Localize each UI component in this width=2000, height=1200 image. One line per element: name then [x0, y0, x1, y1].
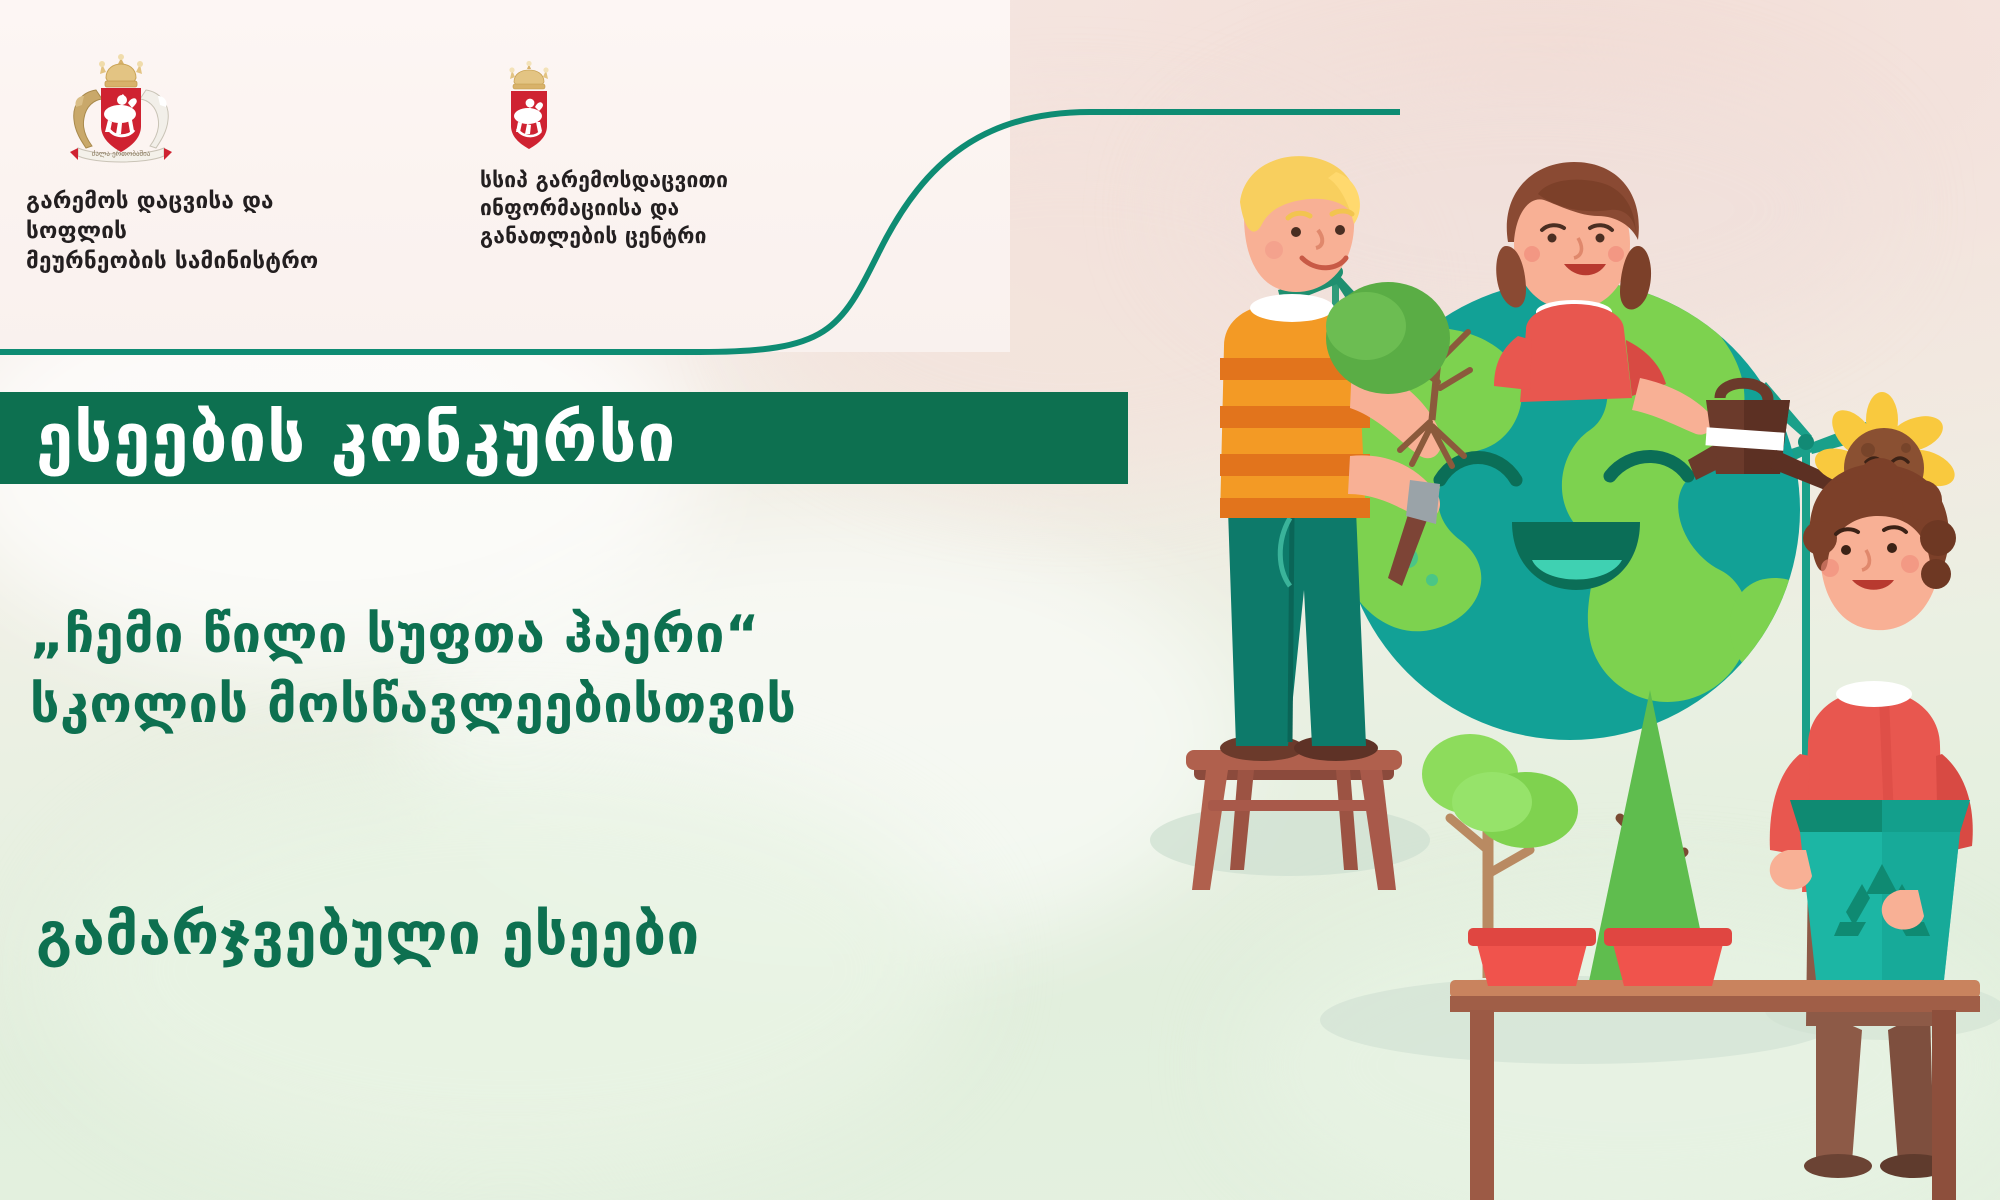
poster-root: ძალა ერთობაშია გარემოს დაცვისა და სოფლის…: [0, 0, 2000, 1200]
subtitle-block: „ჩემი წილი სუფთა ჰაერი“ სკოლის მოსწავლეე…: [30, 600, 1210, 740]
ministry-logo-block: ძალა ერთობაშია გარემოს დაცვისა და სოფლის…: [26, 52, 366, 276]
center-name-line1: სსიპ გარემოსდაცვითი: [480, 166, 820, 194]
center-name-line3: განათლების ცენტრი: [480, 222, 820, 250]
center-name: სსიპ გარემოსდაცვითი ინფორმაციისა და განა…: [480, 166, 820, 250]
ministry-name-line1: გარემოს დაცვისა და სოფლის: [26, 186, 366, 246]
svg-text:ძალა ერთობაშია: ძალა ერთობაშია: [92, 149, 151, 158]
recycling-bin-icon: [1790, 800, 1970, 980]
subtitle-line-theme: „ჩემი წილი სუფთა ჰაერი“: [30, 600, 1210, 670]
page-title: ესეების კონკურსი: [0, 405, 676, 472]
potted-plant-icon: [1604, 928, 1732, 986]
ministry-name-line2: მეურნეობის სამინისტრო: [26, 246, 366, 276]
title-banner: ესეების კონკურსი: [0, 392, 1128, 484]
georgia-coat-of-arms-full-icon: ძალა ერთობაშია: [26, 52, 366, 170]
winners-heading: გამარჯვებული ესეები: [36, 905, 1216, 963]
center-name-line2: ინფორმაციისა და: [480, 194, 820, 222]
subtitle-line-audience: სკოლის მოსწავლეებისთვის: [30, 670, 1210, 740]
potted-plant-icon: [1468, 928, 1596, 986]
children-planting-earth-illustration: [1140, 150, 2000, 1200]
background-cloud: [60, 760, 960, 1180]
ministry-name: გარემოს დაცვისა და სოფლის მეურნეობის სამ…: [26, 186, 366, 276]
center-logo-block: სსიპ გარემოსდაცვითი ინფორმაციისა და განა…: [480, 60, 820, 250]
georgia-small-shield-crown-icon: [480, 60, 820, 156]
